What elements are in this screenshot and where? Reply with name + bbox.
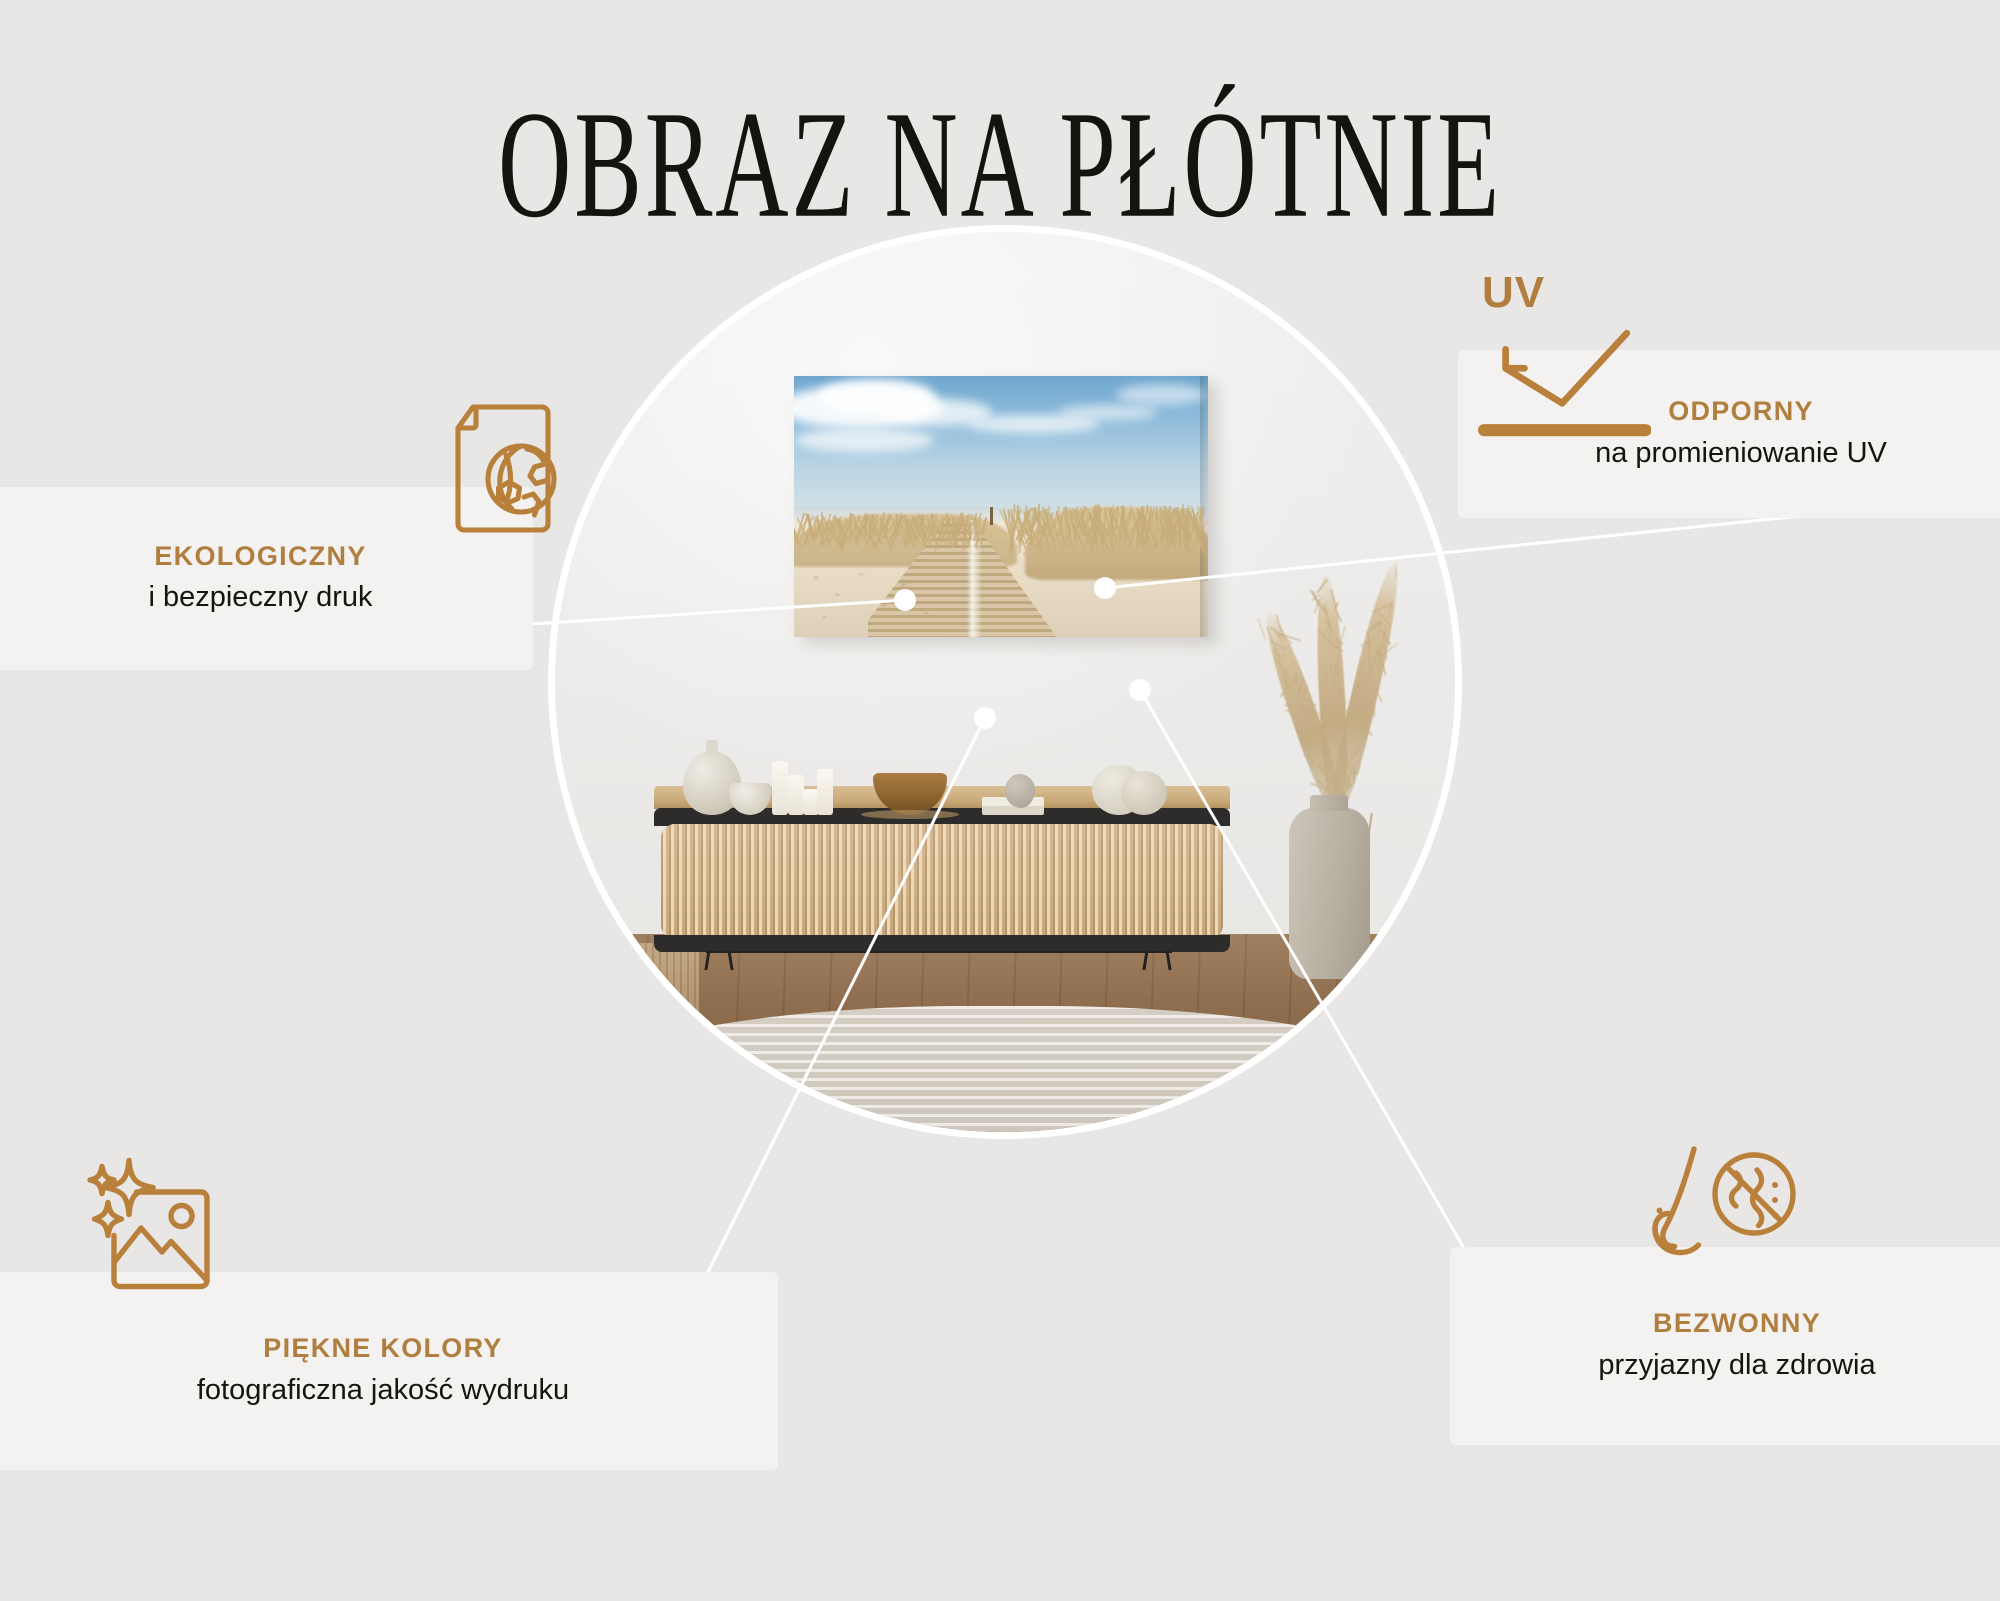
pampas-frond xyxy=(1394,565,1396,577)
cloud xyxy=(1116,384,1207,405)
feature-subtitle-piekne-kolory: fotograficzna jakość wydruku xyxy=(0,1372,778,1408)
cloud xyxy=(794,428,935,451)
pampas-frond xyxy=(1358,661,1365,670)
candle xyxy=(772,761,788,815)
pampas-frond xyxy=(1317,630,1326,637)
sideboard-furniture xyxy=(654,786,1230,971)
feature-title-bezwonny: BEZWONNY xyxy=(1450,1309,2000,1339)
pampas-frond xyxy=(1325,674,1328,683)
feature-subtitle-bezwonny: przyjazny dla zdrowia xyxy=(1450,1347,2000,1383)
infographic-canvas: OBRAZ NA PŁÓTNIE xyxy=(0,0,2000,1601)
pampas-frond xyxy=(1335,655,1340,671)
sideboard-base xyxy=(654,935,1230,952)
tall-floor-vase xyxy=(1289,808,1370,979)
nose-no-odor-icon xyxy=(1643,1143,1808,1298)
uv-icon-label: UV xyxy=(1482,268,1545,318)
pampas-frond xyxy=(1277,654,1279,665)
artwork-post xyxy=(990,507,993,525)
fluted-wood-texture xyxy=(661,824,1223,938)
feature-title-piekne-kolory: PIĘKNE KOLORY xyxy=(0,1334,778,1364)
pampas-frond xyxy=(1353,765,1355,784)
candle xyxy=(788,775,804,815)
living-room-scene xyxy=(555,232,1455,1132)
pampas-frond xyxy=(1312,740,1316,757)
ceramic-vase xyxy=(1121,771,1167,815)
photo-sparkle-icon xyxy=(75,1153,240,1308)
pampas-frond xyxy=(1345,748,1358,765)
pampas-frond xyxy=(1353,722,1355,735)
sideboard-leg-bar xyxy=(706,951,1173,953)
pampas-frond xyxy=(1273,648,1278,657)
candle xyxy=(817,769,833,815)
pampas-frond xyxy=(1367,631,1370,659)
sideboard-doors xyxy=(661,824,1223,938)
scene-circle-highlight xyxy=(555,232,1455,1132)
decorative-stone xyxy=(1005,774,1035,808)
pampas-frond xyxy=(1323,701,1336,714)
artwork-footprints xyxy=(802,564,943,632)
pampas-frond xyxy=(1320,713,1332,722)
eco-document-globe-leaf-icon xyxy=(428,395,578,550)
feature-subtitle-ekologiczny: i bezpieczny druk xyxy=(0,579,533,615)
canvas-artwork xyxy=(794,376,1208,637)
page-title: OBRAZ NA PŁÓTNIE xyxy=(60,78,1940,254)
